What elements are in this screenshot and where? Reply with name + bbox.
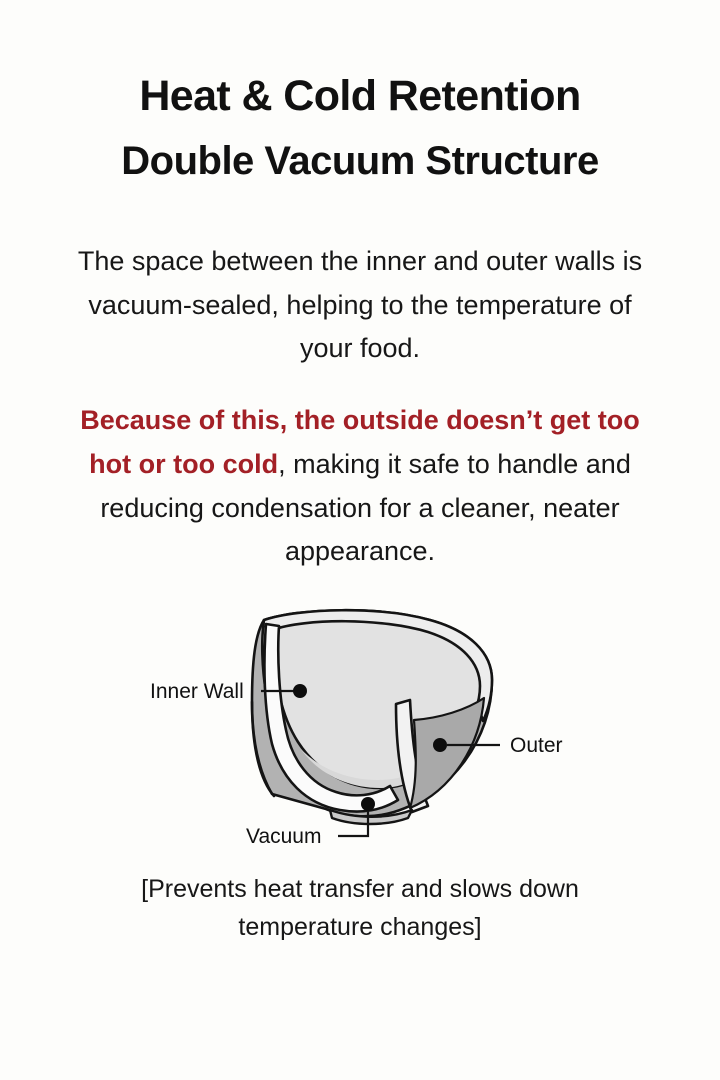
bowl-illustration — [252, 610, 492, 824]
vacuum-pointer-dot — [361, 797, 375, 811]
intro-paragraph: The space between the inner and outer wa… — [75, 240, 645, 371]
inner-wall-pointer-dot — [293, 684, 307, 698]
outer-label: Outer — [510, 734, 563, 757]
heading-block: Heat & Cold Retention Double Vacuum Stru… — [0, 0, 720, 182]
vacuum-structure-diagram: Inner Wall Outer Vacuum — [0, 598, 720, 850]
page-title: Heat & Cold Retention — [0, 74, 720, 120]
page-subtitle: Double Vacuum Structure — [0, 140, 720, 182]
diagram-caption: [Prevents heat transfer and slows down t… — [80, 870, 640, 946]
body-copy: The space between the inner and outer wa… — [75, 240, 645, 574]
vacuum-label: Vacuum — [246, 825, 321, 848]
emphasis-paragraph: Because of this, the outside doesn’t get… — [75, 399, 645, 574]
poster-page: Heat & Cold Retention Double Vacuum Stru… — [0, 0, 720, 1080]
inner-wall-label: Inner Wall — [150, 680, 244, 703]
outer-pointer-dot — [433, 738, 447, 752]
